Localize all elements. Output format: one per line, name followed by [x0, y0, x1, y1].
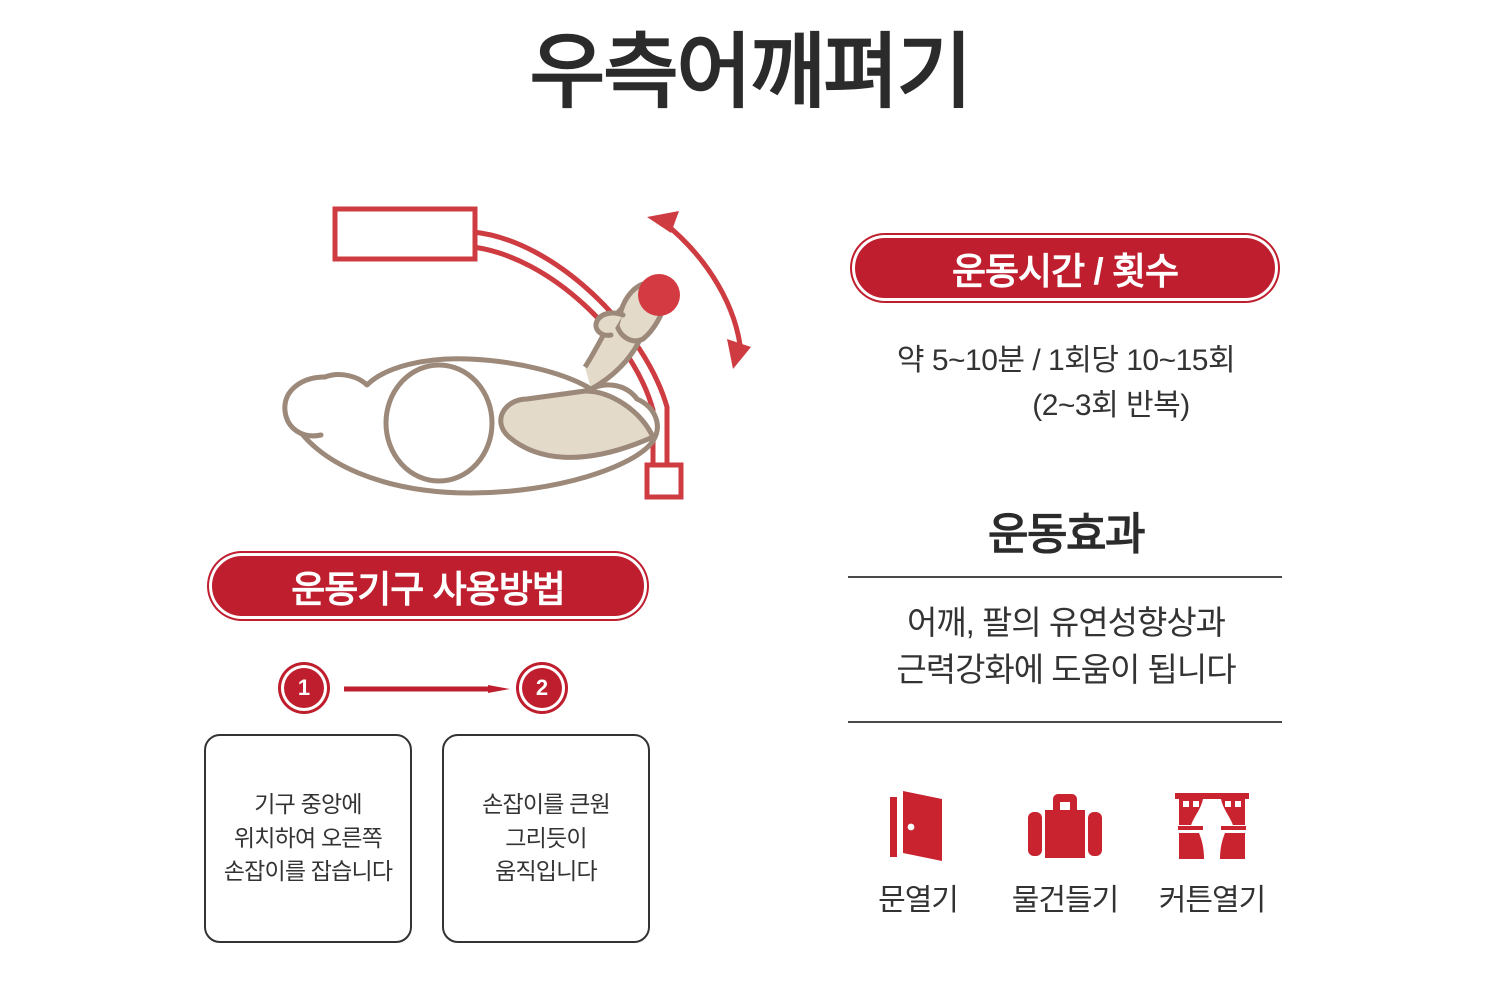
activity-label-suitcase: 물건들기 [1012, 875, 1118, 919]
usage-badge: 운동기구 사용방법 [212, 556, 644, 616]
step-number-2: 2 [522, 668, 562, 708]
page-title: 우측어깨펴기 [0, 28, 1500, 118]
exercise-illustration [255, 185, 775, 515]
time-line-2: (2~3회 반복) [840, 383, 1292, 428]
activity-list: 문열기 물건들기 [848, 785, 1282, 919]
activity-item-suitcase: 물건들기 [995, 785, 1135, 919]
effect-text: 어깨, 팔의 유연성향상과 근력강화에 도움이 됩니다 [840, 600, 1292, 694]
equipment-mount-rectangle [335, 209, 475, 259]
curtain-icon [1173, 785, 1251, 861]
activity-label-door: 문열기 [878, 875, 958, 919]
usage-steps: 1 2 기구 중앙에 위치하여 오른쪽 손잡이를 잡습니다 손잡이를 큰원 그리… [196, 668, 666, 958]
activity-item-door: 문열기 [848, 785, 988, 919]
time-badge: 운동시간 / 횟수 [855, 238, 1275, 298]
step-markers: 1 2 [196, 668, 666, 718]
activity-item-curtain: 커튼열기 [1142, 785, 1282, 919]
activity-label-curtain: 커튼열기 [1159, 875, 1265, 919]
red-handle-knob [638, 274, 680, 316]
suitcase-icon [1026, 785, 1104, 861]
time-line-1: 약 5~10분 / 1회당 10~15회 [840, 338, 1292, 383]
effect-heading: 운동효과 [840, 498, 1292, 562]
step-flow-arrow [344, 685, 512, 693]
left-arm [285, 377, 325, 436]
time-text: 약 5~10분 / 1회당 10~15회 (2~3회 반복) [840, 338, 1292, 428]
head [386, 365, 492, 481]
effect-divider-bottom [848, 721, 1282, 723]
motion-arrow-head-down [727, 339, 751, 369]
step-box-1: 기구 중앙에 위치하여 오른쪽 손잡이를 잡습니다 [204, 734, 412, 943]
rail-anchor-square [647, 465, 681, 497]
step-boxes: 기구 중앙에 위치하여 오른쪽 손잡이를 잡습니다 손잡이를 큰원 그리듯이 움… [196, 734, 666, 944]
door-icon [886, 785, 950, 861]
infographic-page: 우측어깨펴기 [0, 0, 1500, 1000]
step-box-2: 손잡이를 큰원 그리듯이 움직입니다 [442, 734, 650, 943]
step-number-1: 1 [284, 668, 324, 708]
effect-divider-top [848, 576, 1282, 578]
